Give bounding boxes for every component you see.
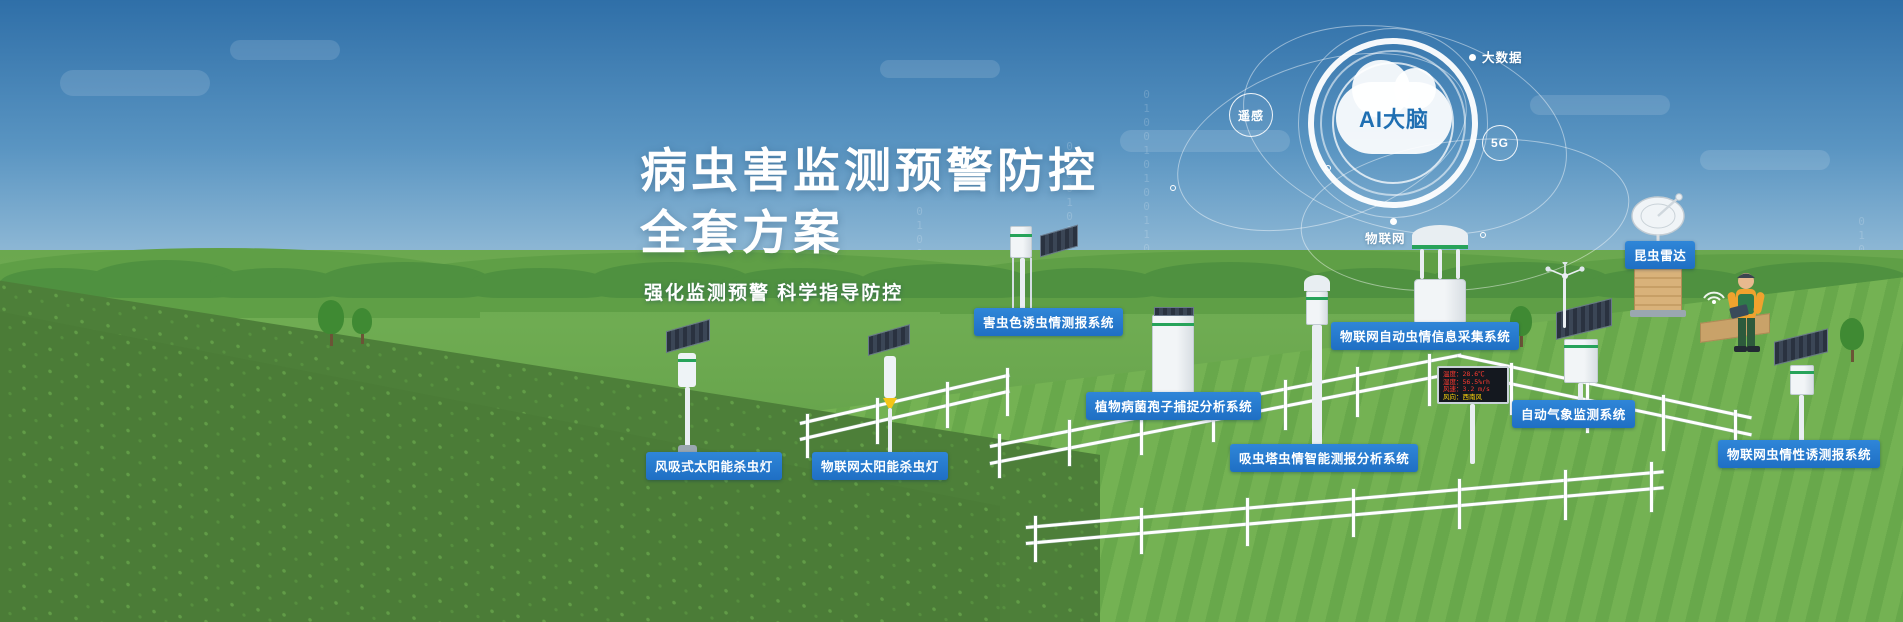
equipment-cabinet	[1010, 226, 1032, 258]
lamp-stripe	[678, 359, 696, 362]
lamp-housing	[884, 356, 896, 398]
device-wind-suction-lamp	[656, 325, 726, 460]
lamp-funnel	[883, 398, 897, 408]
board-pole	[1470, 404, 1475, 464]
orbit-endpoint-dot	[1170, 185, 1176, 191]
tree	[352, 308, 372, 344]
page-title-line-1: 病虫害监测预警防控	[640, 140, 1099, 202]
fence-post	[1352, 489, 1355, 537]
orbit-endpoint-dot	[1480, 232, 1486, 238]
cabinet-stripe	[1790, 371, 1814, 374]
led-board-assembly: 温度：28.6℃ 湿度：56.5%rh 风速：3.2 m/s 风向：西南风	[1437, 366, 1517, 466]
cloud-shape	[880, 60, 1000, 78]
support-pole	[685, 387, 690, 449]
collector-leg	[1456, 249, 1460, 279]
node-big-data-label: 大数据	[1482, 47, 1523, 66]
label-insect-radar[interactable]: 昆虫雷达	[1625, 241, 1695, 269]
node-iot-dot	[1390, 218, 1397, 225]
fence-rail	[1026, 486, 1664, 545]
cabinet-stripe	[1152, 323, 1194, 326]
collector-leg	[1438, 249, 1442, 279]
bush	[320, 262, 490, 298]
label-iot-solar-lamp[interactable]: 物联网太阳能杀虫灯	[812, 452, 948, 480]
device-iot-pheromone	[1768, 335, 1848, 455]
tower-column	[1312, 325, 1322, 450]
fence-post	[946, 382, 949, 428]
fence-post	[806, 414, 809, 458]
cloud-shape	[1700, 150, 1830, 170]
cabinet-stripe	[1010, 234, 1032, 237]
ai-core-badge: AI大脑	[1336, 82, 1452, 154]
led-line: 风向：西南风	[1443, 394, 1503, 402]
tower-head	[1304, 275, 1330, 291]
tree-trunk	[361, 334, 364, 344]
label-spore-capture[interactable]: 植物病菌孢子捕捉分析系统	[1086, 392, 1261, 420]
fence-post	[1246, 498, 1249, 546]
tower-stripe	[1306, 297, 1328, 300]
cabinet-vent	[1154, 307, 1194, 316]
device-iot-solar-lamp	[860, 330, 930, 465]
fence-post	[1006, 368, 1009, 416]
banner-illustration: 010010100101101 01001010011010 010010100…	[0, 0, 1903, 622]
tree-canopy	[352, 308, 372, 334]
binary-decoration: 010010100110	[1140, 88, 1153, 256]
tree-trunk	[330, 334, 333, 346]
device-suction-tower	[1290, 275, 1350, 465]
fence-post	[1564, 470, 1567, 520]
bush	[470, 268, 610, 298]
device-base	[1630, 310, 1686, 317]
tree-trunk	[1851, 350, 1854, 362]
radar-dish-icon	[1622, 192, 1712, 248]
node-5g: 5G	[1482, 125, 1518, 161]
device-iot-insect-collection	[1400, 225, 1480, 335]
collector-dome	[1412, 225, 1468, 247]
ai-core-label: AI大脑	[1359, 102, 1429, 134]
fence-post	[1650, 462, 1653, 512]
fence-rail	[1026, 470, 1664, 529]
equipment-cabinet	[1790, 365, 1814, 395]
label-wind-suction-lamp[interactable]: 风吸式太阳能杀虫灯	[646, 452, 782, 480]
label-iot-pheromone[interactable]: 物联网虫情性诱测报系统	[1718, 440, 1880, 468]
collector-body	[1414, 279, 1466, 325]
fence-post	[1458, 479, 1461, 529]
collector-leg	[1420, 249, 1424, 279]
label-suction-tower[interactable]: 吸虫塔虫情智能测报分析系统	[1230, 444, 1418, 472]
cabinet-stripe	[1564, 345, 1598, 348]
cloud-shape	[60, 70, 210, 96]
solar-panel	[1040, 225, 1078, 258]
fence-post	[1356, 367, 1359, 417]
node-remote-sensing-label: 遥感	[1238, 107, 1264, 124]
equipment-cabinet	[1152, 315, 1194, 403]
node-remote-sensing: 遥感	[1229, 93, 1273, 137]
fence-post	[1068, 420, 1071, 466]
led-display-board: 温度：28.6℃ 湿度：56.5%rh 风速：3.2 m/s 风向：西南风	[1437, 366, 1509, 404]
fence-post	[1662, 395, 1665, 451]
cloud-shape	[230, 40, 340, 60]
label-weather-monitor[interactable]: 自动气象监测系统	[1512, 400, 1635, 428]
fence-post	[1034, 516, 1037, 562]
label-insect-color-lure[interactable]: 害虫色诱虫情测报系统	[974, 308, 1123, 336]
label-iot-insect-collection[interactable]: 物联网自动虫情信息采集系统	[1331, 322, 1519, 350]
fence-post	[1284, 380, 1287, 430]
fence-post	[1140, 508, 1143, 554]
device-wind-sensor	[1540, 262, 1590, 332]
wifi-signal-icon	[1700, 282, 1728, 304]
sensor-mast	[1563, 278, 1566, 328]
node-big-data-dot	[1469, 54, 1476, 61]
node-5g-label: 5G	[1491, 136, 1509, 150]
fence-post	[1428, 354, 1431, 406]
orbit-endpoint-dot	[1325, 165, 1331, 171]
tree-canopy	[318, 300, 344, 334]
tree	[318, 300, 344, 346]
